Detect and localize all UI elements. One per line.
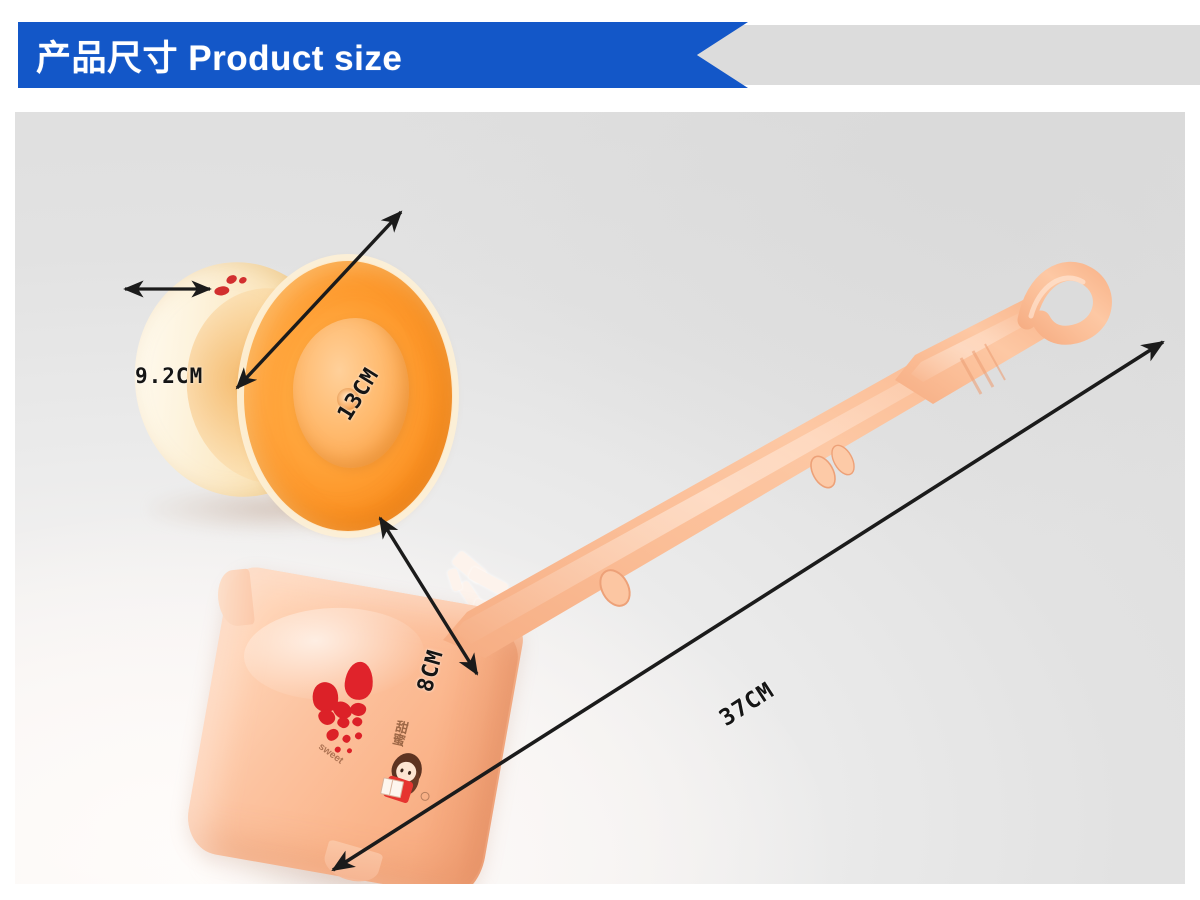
banner-gray-tail: [690, 25, 1200, 85]
product-size-infographic: 产品尺寸 Product size: [0, 0, 1200, 900]
dimension-arrow-37cm: [333, 342, 1163, 870]
section-header-banner: 产品尺寸 Product size: [0, 22, 1200, 88]
dimension-label-9-2cm: 9.2CM: [135, 364, 203, 388]
page-title: 产品尺寸 Product size: [36, 22, 402, 88]
product-photo: 甜蜜 sweet: [15, 112, 1185, 884]
dimension-arrow-13cm: [237, 212, 401, 388]
dimension-annotations: [15, 112, 1185, 884]
